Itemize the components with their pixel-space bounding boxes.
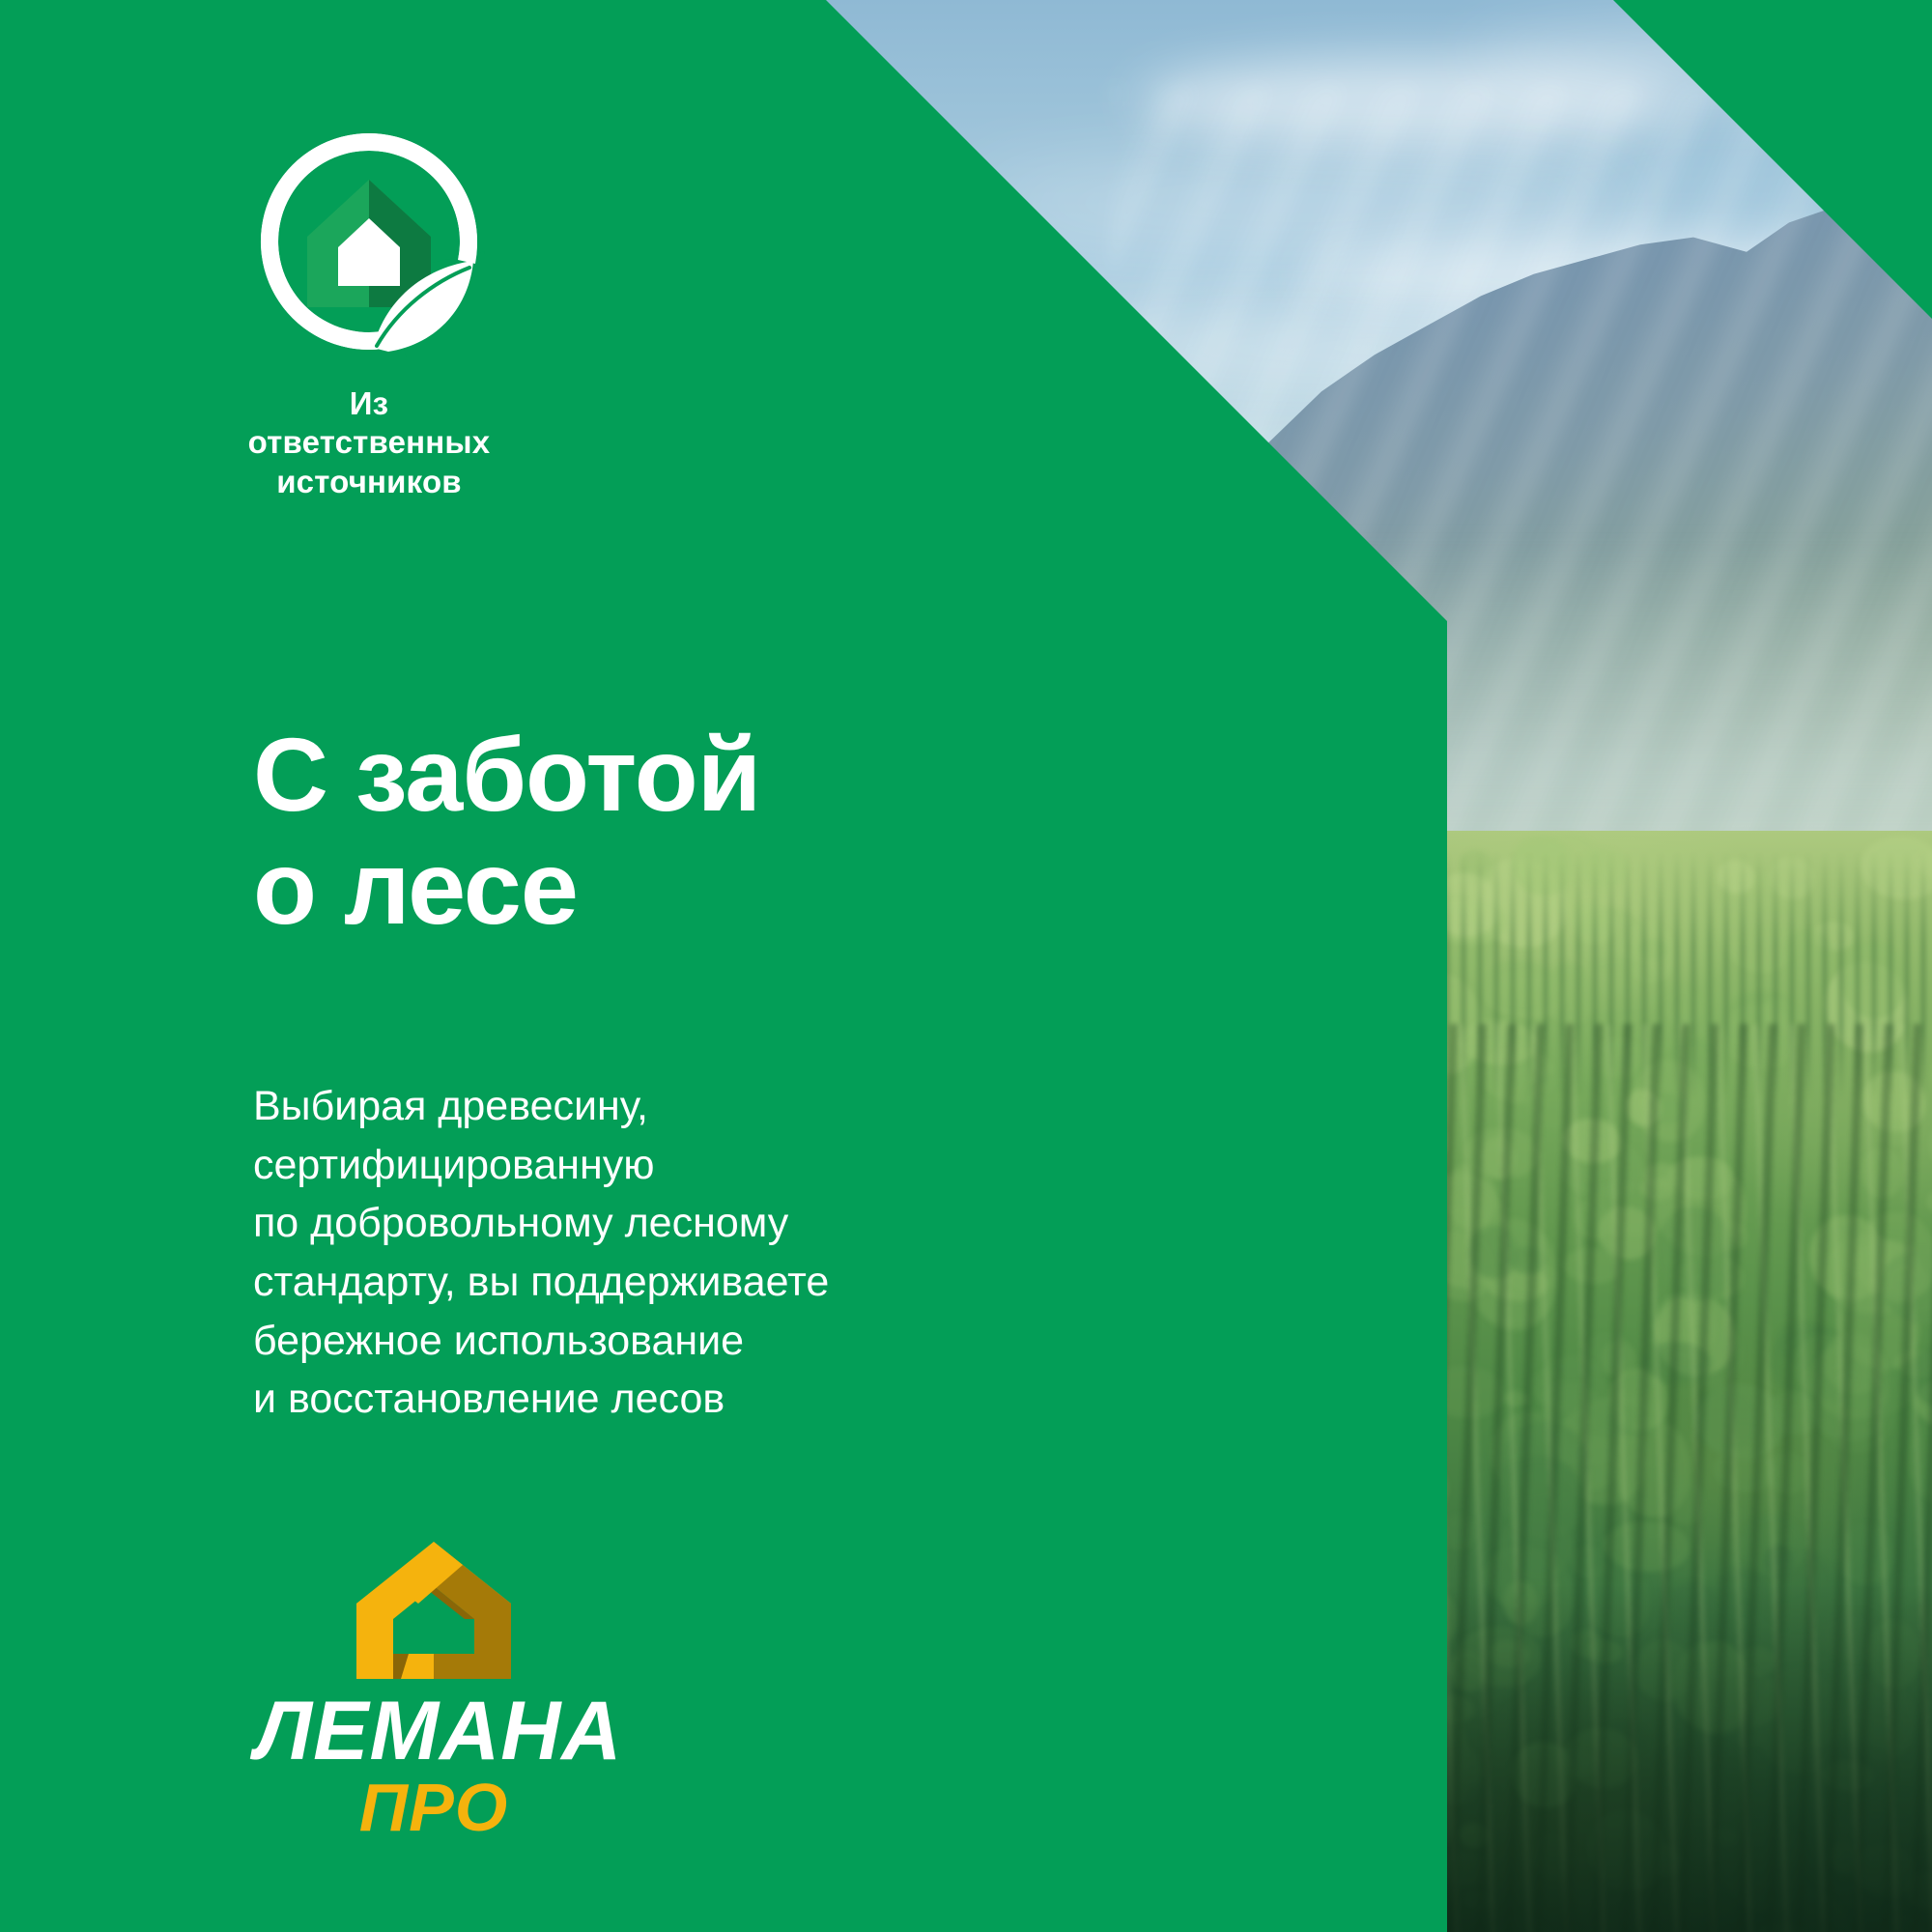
eco-badge: Из ответственных источников (253, 126, 485, 501)
brand-subname: ПРО (255, 1774, 612, 1841)
brand-logo: ЛЕМАНА ПРО (255, 1540, 612, 1841)
brand-name: ЛЕМАНА (255, 1690, 612, 1772)
body-text: Выбирая древесину, сертифицированную по … (253, 1077, 829, 1429)
eco-badge-caption: Из ответственных источников (224, 384, 514, 501)
house-leaf-circle-icon (253, 126, 485, 357)
content-area: Из ответственных источников С заботой о … (0, 0, 1447, 1932)
page-title: С заботой о лесе (253, 719, 760, 944)
house-roof-icon (351, 1540, 517, 1685)
poster: Из ответственных источников С заботой о … (0, 0, 1932, 1932)
